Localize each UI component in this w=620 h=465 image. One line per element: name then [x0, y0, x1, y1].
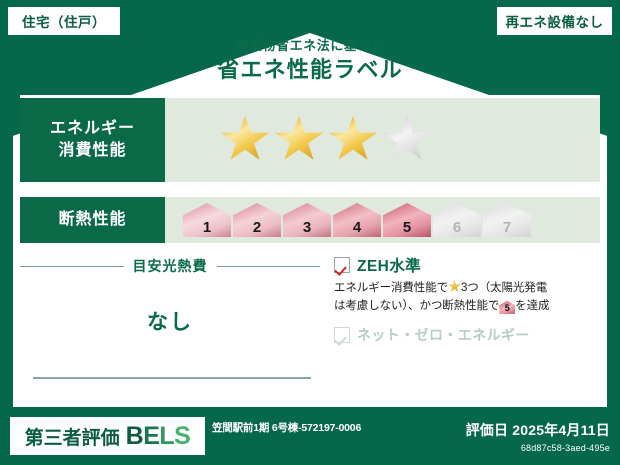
- insulation-grade-number: 4: [353, 220, 361, 235]
- zeh-standard-title: ZEH水準: [357, 254, 421, 276]
- bels-logo: 第三者評価 BELS: [10, 417, 205, 455]
- bels-logo-en-text: BELS: [126, 422, 191, 451]
- utility-cost-title: 目安光熱費: [133, 256, 208, 276]
- insulation-grade-number: 2: [253, 220, 261, 235]
- insulation-grade-number: 3: [303, 220, 311, 235]
- net-zero-energy-label: ネット・ゼロ・エネルギー: [357, 325, 530, 345]
- insulation-grade-scale: 1234567: [165, 197, 600, 243]
- footer-evaluation-info: 評価日 2025年4月11日 68d87c58-3aed-495e: [466, 420, 610, 453]
- zeh-description-part1: エネルギー消費性能で: [334, 282, 448, 294]
- star-icon-3: [328, 116, 378, 164]
- zeh-checkbox-icon: [334, 257, 350, 273]
- zeh-block: ZEH水準 エネルギー消費性能で3つ（太陽光発電は考慮しない）、かつ断熱性能で5…: [320, 252, 600, 377]
- title-subtitle: 建築物省エネ法に基づく: [0, 38, 620, 54]
- insulation-grade-number: 7: [503, 220, 511, 235]
- insulation-grade-badge-6: 6: [433, 203, 481, 237]
- bels-logo-jp-text: 第三者評価: [25, 423, 120, 450]
- insulation-performance-label-block: 断熱性能: [20, 197, 165, 243]
- title-main: 省エネ性能ラベル: [0, 57, 620, 82]
- energy-star-rating: [165, 98, 600, 182]
- divider-right: [217, 266, 321, 267]
- utility-cost-value: なし: [20, 306, 320, 336]
- insulation-grade-badge-1: 1: [183, 203, 231, 237]
- footer-reference-text: 笠間駅前1期 6号棟-572197-0006: [212, 421, 392, 435]
- zeh-description-part2: は考慮しない）、かつ断熱性能で: [334, 300, 499, 312]
- net-zero-energy-checkbox-icon: [334, 327, 350, 343]
- energy-performance-label-line1: エネルギー: [50, 118, 135, 140]
- bels-letter-l: L: [159, 422, 174, 451]
- zeh-standard-row: ZEH水準: [334, 254, 600, 276]
- energy-performance-label-line2: 消費性能: [58, 140, 126, 162]
- lower-divider: [33, 377, 311, 379]
- badge-renewable-energy: 再エネ設備なし: [497, 7, 612, 35]
- insulation-grade-badge-4: 4: [333, 203, 381, 237]
- insulation-grade-number: 5: [403, 220, 411, 235]
- inline-grade-badge-icon: 5: [499, 301, 515, 314]
- energy-performance-label-block: エネルギー 消費性能: [20, 98, 165, 182]
- insulation-grade-badge-2: 2: [233, 203, 281, 237]
- badge-renewable-energy-label: 再エネ設備なし: [506, 11, 604, 31]
- utility-cost-block: 目安光熱費 なし: [20, 252, 320, 377]
- zeh-description: エネルギー消費性能で3つ（太陽光発電は考慮しない）、かつ断熱性能で5を達成: [334, 280, 600, 316]
- bels-letter-s: S: [174, 422, 190, 451]
- insulation-grade-number: 1: [203, 220, 211, 235]
- badge-building-type: 住宅（住戸）: [8, 7, 120, 35]
- bels-letter-b: B: [126, 422, 144, 451]
- page-title: 建築物省エネ法に基づく 省エネ性能ラベル: [0, 38, 620, 82]
- star-icon-2: [274, 116, 324, 164]
- insulation-performance-label: 断熱性能: [58, 209, 126, 231]
- energy-performance-label: 住宅（住戸） 再エネ設備なし 建築物省エネ法に基づく 省エネ性能ラベル エネルギ…: [0, 0, 620, 465]
- insulation-grade-badge-5: 5: [383, 203, 431, 237]
- star-icon-4: [382, 116, 432, 164]
- insulation-grade-badge-3: 3: [283, 203, 331, 237]
- zeh-description-star-count: 3つ（太陽光発電: [461, 282, 547, 294]
- evaluation-id: 68d87c58-3aed-495e: [466, 443, 610, 453]
- divider-left: [20, 266, 124, 267]
- evaluation-date: 評価日 2025年4月11日: [466, 420, 610, 440]
- utility-cost-header: 目安光熱費: [20, 256, 320, 276]
- inline-star-icon: [448, 280, 461, 293]
- insulation-grade-badge-7: 7: [483, 203, 531, 237]
- insulation-grade-number: 6: [453, 220, 461, 235]
- evaluation-date-label: 評価日: [466, 422, 509, 438]
- footer: 第三者評価 BELS 笠間駅前1期 6号棟-572197-0006 評価日 20…: [0, 407, 620, 465]
- bels-letter-e: E: [143, 422, 159, 451]
- insulation-performance-row: 断熱性能 1234567: [20, 197, 600, 243]
- star-icon-1: [220, 116, 270, 164]
- energy-performance-row: エネルギー 消費性能: [20, 98, 600, 182]
- badge-building-type-label: 住宅（住戸）: [22, 11, 106, 31]
- net-zero-energy-row: ネット・ゼロ・エネルギー: [334, 325, 600, 345]
- zeh-description-part3: を達成: [515, 300, 549, 312]
- evaluation-date-value: 2025年4月11日: [512, 422, 610, 438]
- bottom-section: 目安光熱費 なし ZEH水準 エネルギー消費性能で3つ（太陽光発電は考慮しない）…: [20, 252, 600, 377]
